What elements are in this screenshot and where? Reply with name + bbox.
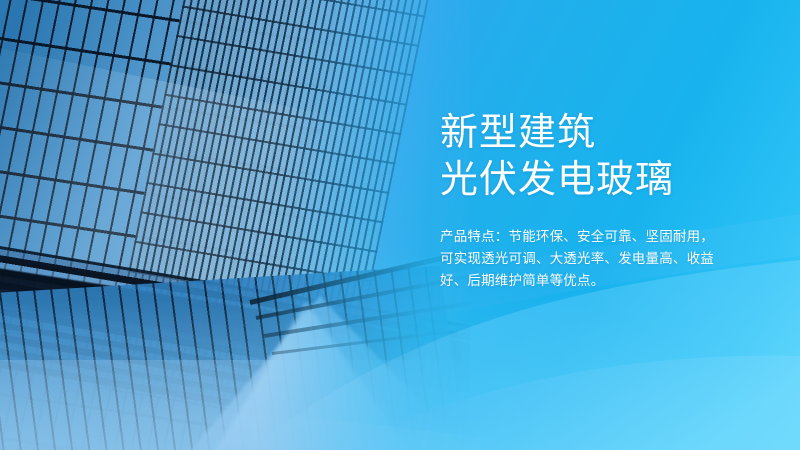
promo-banner: 新型建筑 光伏发电玻璃 产品特点：节能环保、安全可靠、坚固耐用，可实现透光可调、… [0, 0, 800, 450]
text-block: 新型建筑 光伏发电玻璃 产品特点：节能环保、安全可靠、坚固耐用，可实现透光可调、… [440, 110, 770, 292]
body-copy: 产品特点：节能环保、安全可靠、坚固耐用，可实现透光可调、大透光率、发电量高、收益… [440, 226, 725, 292]
headline-line-2: 光伏发电玻璃 [440, 157, 770, 204]
building-photo [0, 0, 470, 450]
headline-line-1: 新型建筑 [440, 110, 770, 157]
plaza-floor-sheen [0, 360, 470, 450]
